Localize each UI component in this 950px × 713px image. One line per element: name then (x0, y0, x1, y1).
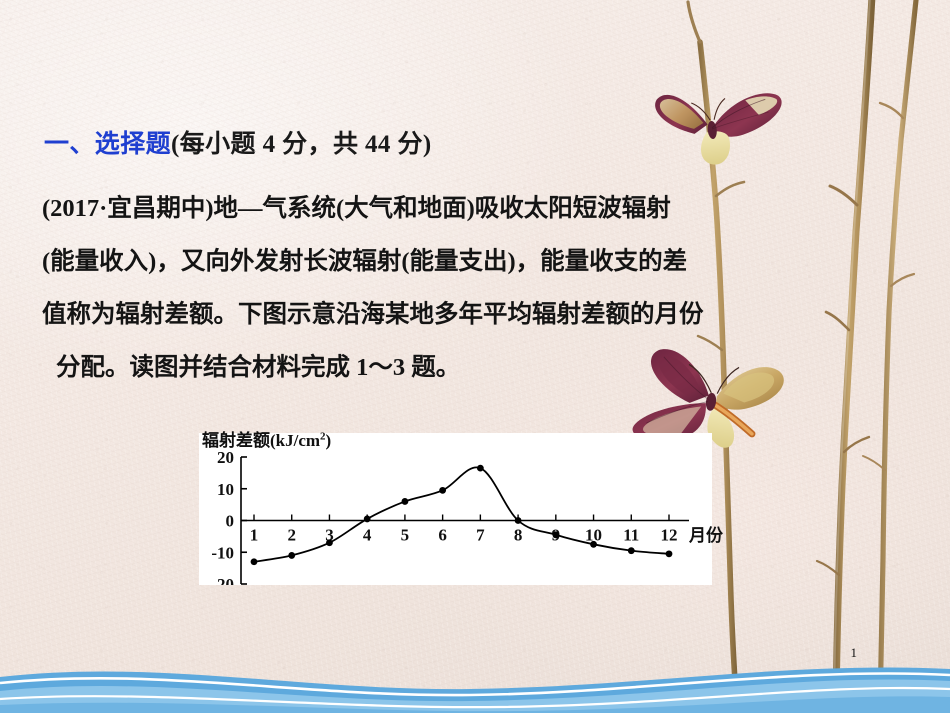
passage-text: (2017·宜昌期中)地—气系统(大气和地面)吸收太阳短波辐射 (能量收入)，又… (42, 182, 742, 394)
passage-line-1: (2017·宜昌期中)地—气系统(大气和地面)吸收太阳短波辐射 (42, 182, 742, 235)
chart-data-point (364, 516, 371, 523)
chart-y-tick-label: -10 (211, 543, 234, 562)
chart-x-tick-label: 5 (401, 526, 410, 545)
chart-y-tick-label: -20 (211, 575, 234, 585)
section-heading: 一、选择题(每小题 4 分，共 44 分) (44, 124, 432, 160)
chart-x-tick-label: 2 (287, 526, 296, 545)
passage-line-2: (能量收入)，又向外发射长波辐射(能量支出)，能量收支的差 (42, 235, 742, 288)
chart-y-tick-label: 10 (217, 480, 234, 499)
chart-x-tick-label: 6 (438, 526, 447, 545)
chart-data-point (326, 539, 333, 546)
chart-x-tick-label: 11 (623, 526, 639, 545)
chart-data-point (590, 541, 597, 548)
chart-data-point (439, 487, 446, 494)
chart-y-tick-label: 0 (226, 512, 235, 531)
radiation-balance-line-chart: 20100-10-20123456789101112 (199, 433, 712, 585)
chart-data-point (515, 517, 522, 524)
chart-data-point (666, 550, 673, 557)
chart-x-tick-label: 12 (661, 526, 678, 545)
page-number: 1 (851, 645, 858, 661)
chart-x-tick-label: 1 (250, 526, 259, 545)
chart-data-point (552, 531, 559, 538)
chart-x-axis-label: 月份 (689, 521, 723, 546)
chart-y-tick-label: 20 (217, 448, 234, 467)
chart-data-point (477, 465, 484, 472)
footer-wave (0, 647, 950, 713)
slide-content: 一、选择题(每小题 4 分，共 44 分) (2017·宜昌期中)地—气系统(大… (0, 0, 950, 713)
chart-x-tick-label: 7 (476, 526, 485, 545)
passage-line-4: 分配。读图并结合材料完成 1～3 题。 (42, 341, 742, 394)
chart-data-point (288, 552, 295, 559)
chart-x-tick-label: 4 (363, 526, 372, 545)
chart-data-line (254, 467, 669, 561)
chart-data-point (251, 558, 258, 565)
chart-data-point (628, 547, 635, 554)
chart-x-tick-label: 8 (514, 526, 523, 545)
section-heading-highlight: 一、选择题 (44, 131, 171, 158)
section-heading-rest: (每小题 4 分，共 44 分) (171, 131, 432, 158)
passage-line-3: 值称为辐射差额。下图示意沿海某地多年平均辐射差额的月份 (42, 288, 742, 341)
chart-data-point (402, 498, 409, 505)
